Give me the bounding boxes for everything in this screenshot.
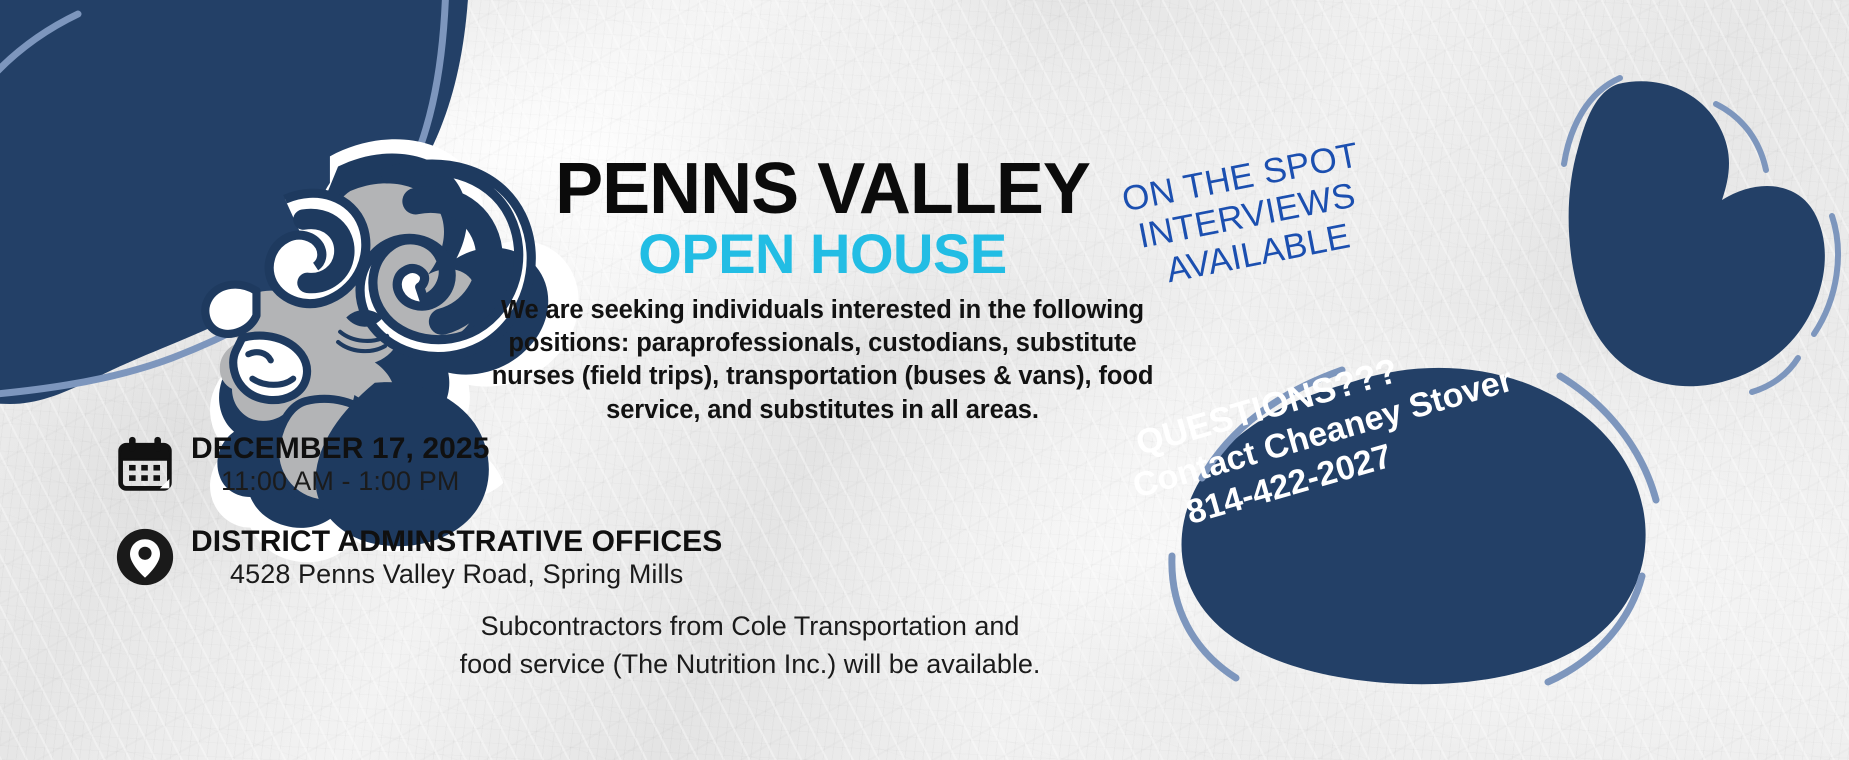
event-date-row: DECEMBER 17, 2025 11:00 AM - 1:00 PM (115, 432, 490, 496)
open-house-flyer: PENNS VALLEY OPEN HOUSE We are seeking i… (0, 0, 1849, 760)
event-date-primary: DECEMBER 17, 2025 (191, 432, 490, 466)
page-title: PENNS VALLEY (455, 155, 1190, 223)
event-location-secondary: 4528 Penns Valley Road, Spring Mills (191, 559, 722, 589)
event-date-secondary: 11:00 AM - 1:00 PM (191, 466, 490, 496)
description-line: nurses (field trips), transportation (bu… (461, 360, 1184, 393)
event-date-text: DECEMBER 17, 2025 11:00 AM - 1:00 PM (191, 432, 490, 496)
event-location-text: DISTRICT ADMINSTRATIVE OFFICES 4528 Penn… (191, 525, 722, 589)
map-pin-icon (115, 527, 175, 587)
subcontractor-line: food service (The Nutrition Inc.) will b… (430, 646, 1070, 684)
subcontractor-line: Subcontractors from Cole Transportation … (430, 608, 1070, 646)
description-line: service, and substitutes in all areas. (461, 394, 1184, 427)
calendar-icon (115, 434, 175, 494)
event-location-primary: DISTRICT ADMINSTRATIVE OFFICES (191, 525, 722, 559)
subcontractor-note: Subcontractors from Cole Transportation … (430, 608, 1070, 684)
event-location-row: DISTRICT ADMINSTRATIVE OFFICES 4528 Penn… (115, 525, 722, 589)
headline-group: PENNS VALLEY OPEN HOUSE We are seeking i… (455, 155, 1190, 427)
description-line: positions: paraprofessionals, custodians… (461, 327, 1184, 360)
page-subtitle: OPEN HOUSE (455, 225, 1190, 284)
description-line: We are seeking individuals interested in… (461, 294, 1184, 327)
description-paragraph: We are seeking individuals interested in… (455, 294, 1190, 427)
